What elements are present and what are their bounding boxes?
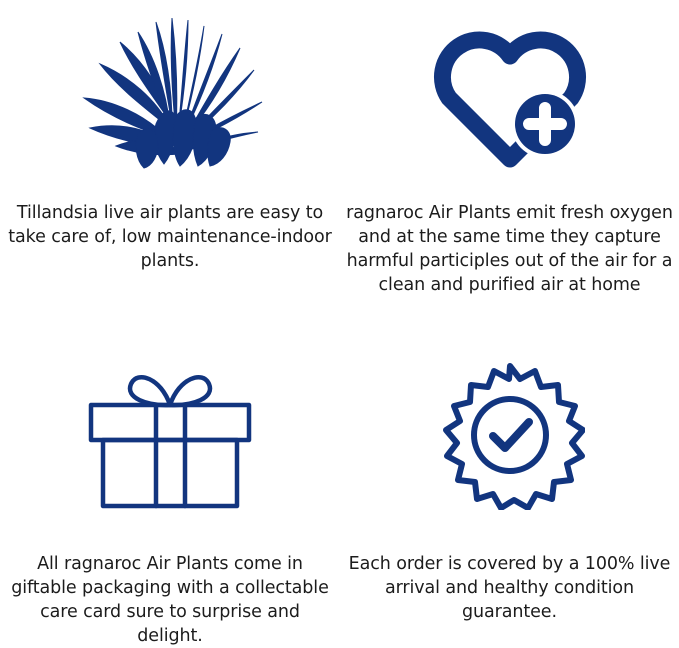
feature-text: ragnaroc Air Plants emit fresh oxygen an…	[345, 201, 675, 297]
heart-plus-icon	[425, 14, 595, 174]
feature-text: Tillandsia live air plants are easy to t…	[2, 201, 338, 273]
air-plant-icon	[72, 14, 268, 174]
feature-grid: Tillandsia live air plants are easy to t…	[0, 0, 679, 617]
gift-box-icon	[75, 360, 265, 510]
verified-badge-icon	[435, 360, 585, 510]
feature-cell-verified-badge: Each order is covered by a 100% live arr…	[340, 308, 679, 617]
feature-cell-heart-plus: ragnaroc Air Plants emit fresh oxygen an…	[340, 0, 679, 308]
feature-text: Each order is covered by a 100% live arr…	[345, 552, 675, 624]
feature-text: All ragnaroc Air Plants come in giftable…	[5, 552, 335, 648]
feature-cell-gift-box: All ragnaroc Air Plants come in giftable…	[0, 308, 340, 617]
feature-cell-air-plant: Tillandsia live air plants are easy to t…	[0, 0, 340, 308]
